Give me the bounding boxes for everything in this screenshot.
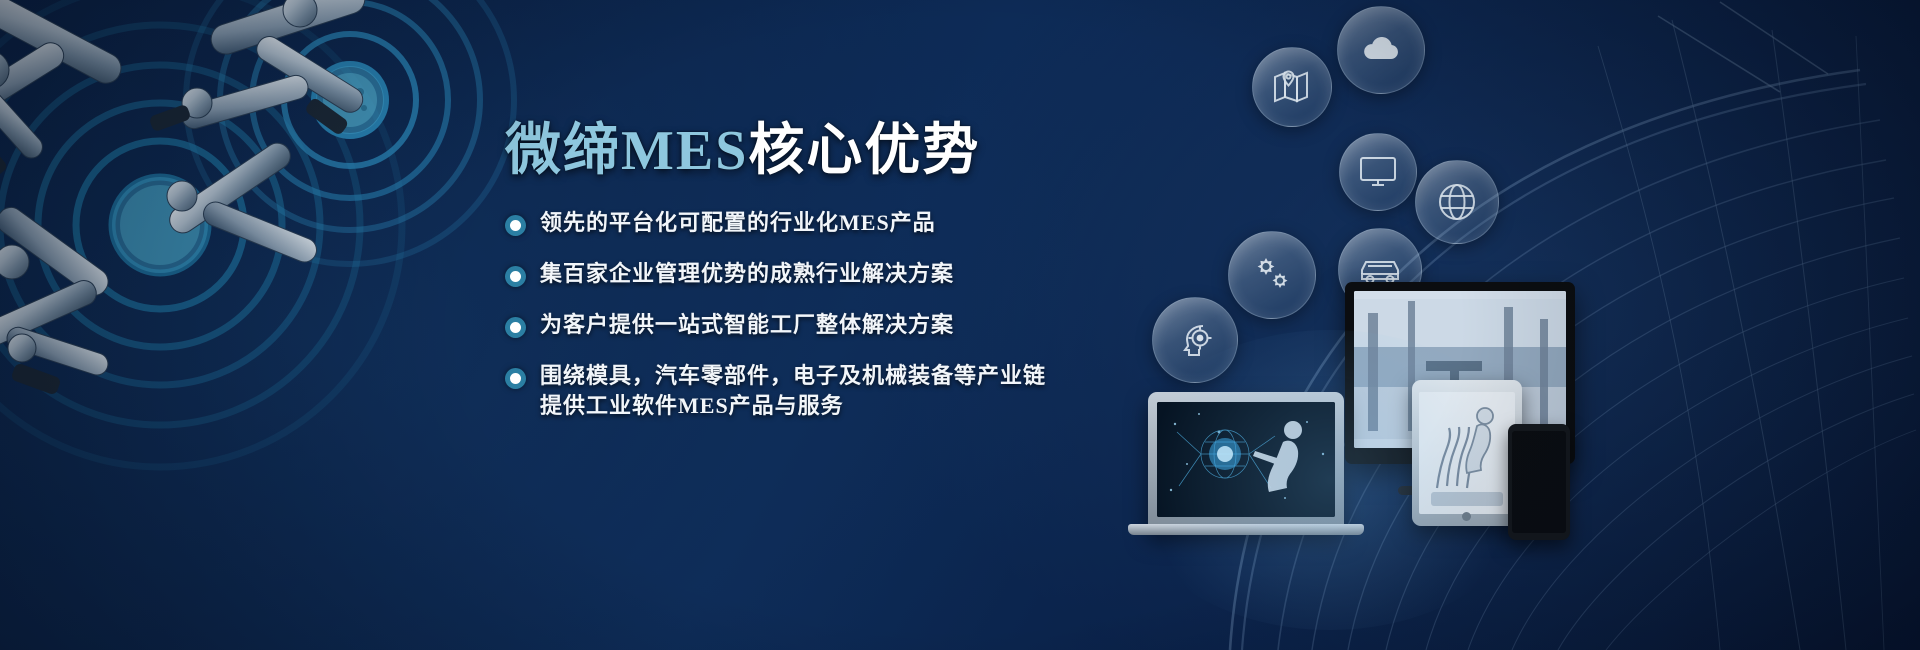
title-accent-brand: 微缔 xyxy=(505,120,621,182)
list-item: 领先的平台化可配置的行业化MES产品 xyxy=(505,208,1145,238)
laptop-screen xyxy=(1157,402,1335,517)
cloud-icon xyxy=(1359,28,1403,72)
list-item: 为客户提供一站式智能工厂整体解决方案 xyxy=(505,310,1145,340)
benefit-text-line1: 围绕模具，汽车零部件，电子及机械装备等产业链 xyxy=(540,363,1046,388)
map-pin-icon xyxy=(1271,68,1313,106)
benefit-text: 为客户提供一站式智能工厂整体解决方案 xyxy=(540,310,954,340)
tablet-home-button[interactable] xyxy=(1462,512,1471,521)
icon-bubble-monitor[interactable] xyxy=(1339,133,1417,211)
list-item: 集百家企业管理优势的成熟行业解决方案 xyxy=(505,259,1145,289)
title-accent-mes: MES xyxy=(621,120,748,182)
laptop-base xyxy=(1128,524,1364,535)
benefits-list: 领先的平台化可配置的行业化MES产品 集百家企业管理优势的成熟行业解决方案 为客… xyxy=(505,208,1145,421)
icon-bubble-cloud[interactable] xyxy=(1337,6,1425,94)
bullet-dot-icon xyxy=(505,368,526,389)
benefit-text-line2: 提供工业软件MES产品与服务 xyxy=(540,391,1046,421)
title-plain: 核心优势 xyxy=(748,120,980,182)
ai-head-icon xyxy=(1173,318,1217,362)
icon-bubble-globe[interactable] xyxy=(1415,160,1499,244)
bullet-dot-icon xyxy=(505,215,526,236)
bullet-dot-icon xyxy=(505,266,526,287)
monitor-icon xyxy=(1358,154,1398,190)
icon-bubble-ai-head[interactable] xyxy=(1152,297,1238,383)
gears-icon xyxy=(1249,254,1295,296)
benefit-text: 领先的平台化可配置的行业化MES产品 xyxy=(540,208,936,238)
benefit-text-multiline: 围绕模具，汽车零部件，电子及机械装备等产业链 提供工业软件MES产品与服务 xyxy=(540,361,1046,421)
banner-title: 微缔MES核心优势 xyxy=(505,118,1145,184)
tablet-screen xyxy=(1419,392,1515,514)
benefit-text: 集百家企业管理优势的成熟行业解决方案 xyxy=(540,259,954,289)
banner-content: 微缔MES核心优势 领先的平台化可配置的行业化MES产品 集百家企业管理优势的成… xyxy=(505,118,1145,442)
ai-robot-photo xyxy=(1157,402,1335,517)
icon-bubble-map[interactable] xyxy=(1252,47,1332,127)
hero-banner: 微缔MES核心优势 领先的平台化可配置的行业化MES产品 集百家企业管理优势的成… xyxy=(0,0,1920,650)
phone-screen xyxy=(1512,431,1566,533)
tablet-device xyxy=(1412,380,1522,526)
handshake-photo xyxy=(1419,392,1515,514)
phone-device xyxy=(1508,424,1570,540)
laptop-device xyxy=(1148,392,1344,530)
robot-arms xyxy=(0,0,570,490)
icon-bubble-gears[interactable] xyxy=(1228,231,1316,319)
bullet-dot-icon xyxy=(505,317,526,338)
globe-icon xyxy=(1436,181,1478,223)
list-item: 围绕模具，汽车零部件，电子及机械装备等产业链 提供工业软件MES产品与服务 xyxy=(505,361,1145,421)
